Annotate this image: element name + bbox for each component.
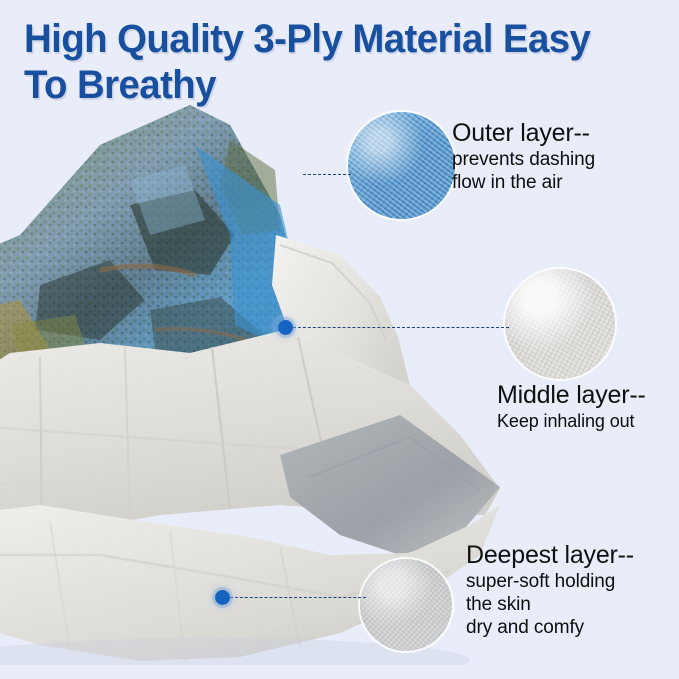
callout-deepest-layer: Deepest layer-- super-soft holding the s… — [466, 540, 634, 639]
anchor-dot-middle — [278, 320, 293, 335]
callout-deepest-body: super-soft holding the skin dry and comf… — [466, 570, 634, 639]
callout-middle-layer: Middle layer-- Keep inhaling out — [497, 380, 646, 433]
lead-line-deepest — [230, 597, 366, 598]
callout-outer-layer: Outer layer-- prevents dashing flow in t… — [452, 118, 595, 194]
bubble-middle-layer-closeup — [505, 269, 615, 379]
infographic-canvas: High Quality 3-Ply Material Easy To Brea… — [0, 0, 679, 679]
lead-line-middle — [293, 327, 509, 328]
callout-middle-heading: Middle layer-- — [497, 380, 646, 410]
bubble-outer-layer-closeup — [348, 112, 455, 219]
bubble-deepest-layer-closeup — [360, 559, 452, 651]
anchor-dot-deepest — [215, 590, 230, 605]
callout-outer-heading: Outer layer-- — [452, 118, 595, 148]
callout-middle-body: Keep inhaling out — [497, 410, 646, 433]
page-title: High Quality 3-Ply Material Easy To Brea… — [24, 16, 629, 108]
callout-outer-body: prevents dashing flow in the air — [452, 148, 595, 194]
callout-deepest-heading: Deepest layer-- — [466, 540, 634, 570]
lead-line-outer — [303, 174, 351, 175]
